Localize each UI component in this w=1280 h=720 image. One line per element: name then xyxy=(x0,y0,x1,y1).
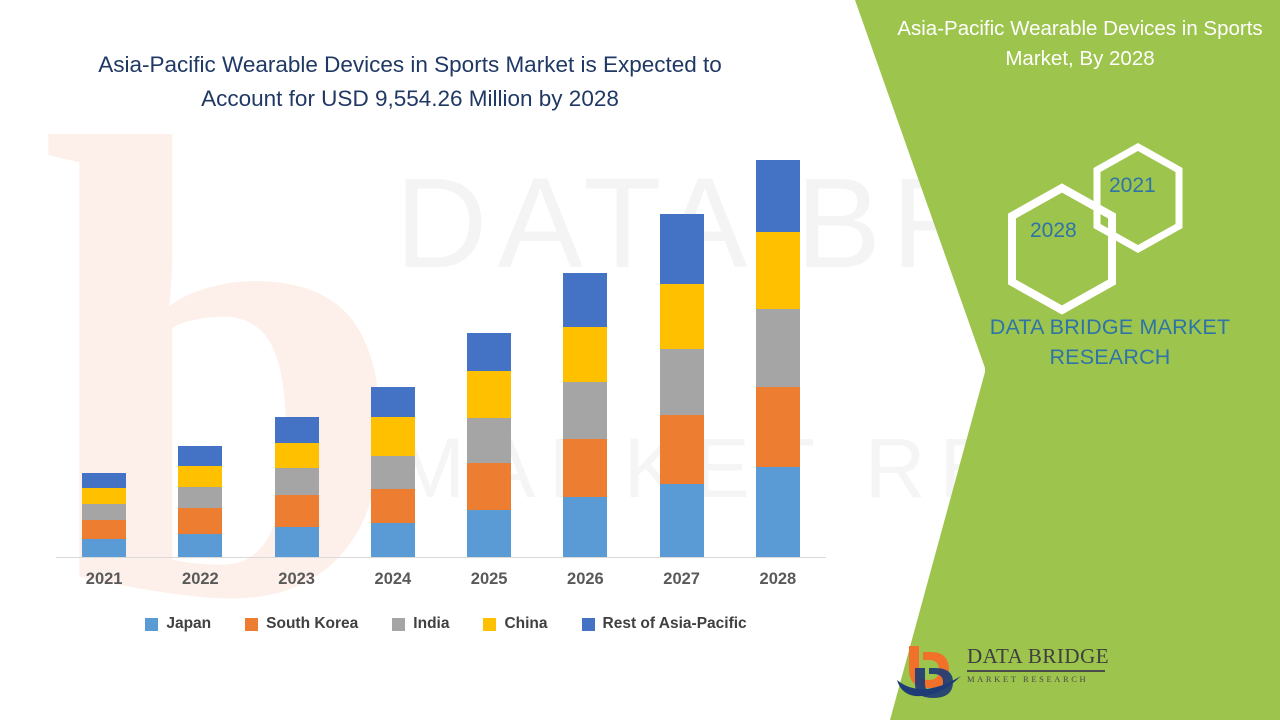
bar-segment[interactable] xyxy=(660,284,704,349)
bar-segment[interactable] xyxy=(467,463,511,510)
x-axis-labels: 20212022202320242025202620272028 xyxy=(56,570,826,589)
bar-segment[interactable] xyxy=(275,527,319,557)
bar-segment[interactable] xyxy=(178,487,222,508)
bar-segment[interactable] xyxy=(756,232,800,310)
bar-segment[interactable] xyxy=(275,417,319,443)
hexagon-front-year: 2028 xyxy=(1030,219,1077,243)
legend-item[interactable]: Rest of Asia-Pacific xyxy=(582,615,747,633)
bar-segment[interactable] xyxy=(275,468,319,495)
bar-segment[interactable] xyxy=(660,415,704,484)
x-axis-label: 2027 xyxy=(654,570,710,589)
bar-segment[interactable] xyxy=(756,160,800,232)
legend-label: Rest of Asia-Pacific xyxy=(603,615,747,633)
bar-group xyxy=(365,160,421,557)
legend-swatch xyxy=(245,618,258,631)
x-axis-label: 2021 xyxy=(76,570,132,589)
legend-swatch xyxy=(483,618,496,631)
bar-segment[interactable] xyxy=(563,273,607,326)
hexagon-back-year: 2021 xyxy=(1109,174,1156,198)
bar-group xyxy=(269,160,325,557)
x-axis-label: 2028 xyxy=(750,570,806,589)
x-axis-label: 2022 xyxy=(172,570,228,589)
x-axis-label: 2026 xyxy=(557,570,613,589)
bar-group xyxy=(461,160,517,557)
bar-segment[interactable] xyxy=(371,417,415,455)
bar-segment[interactable] xyxy=(178,466,222,486)
x-axis-label: 2023 xyxy=(269,570,325,589)
legend-swatch xyxy=(392,618,405,631)
bar-segment[interactable] xyxy=(660,349,704,415)
x-axis-label: 2024 xyxy=(365,570,421,589)
bar-segment[interactable] xyxy=(178,446,222,466)
bar-segment[interactable] xyxy=(563,439,607,498)
bar-group xyxy=(172,160,228,557)
bar-segment[interactable] xyxy=(371,523,415,557)
x-axis-label: 2025 xyxy=(461,570,517,589)
chart-legend: JapanSouth KoreaIndiaChinaRest of Asia-P… xyxy=(56,615,836,633)
stacked-bar[interactable] xyxy=(178,446,222,557)
bar-segment[interactable] xyxy=(563,497,607,557)
bar-segment[interactable] xyxy=(178,534,222,557)
legend-item[interactable]: Japan xyxy=(145,615,211,633)
x-axis-line xyxy=(56,557,826,558)
bar-segment[interactable] xyxy=(371,387,415,417)
legend-item[interactable]: India xyxy=(392,615,449,633)
chart-plot-area xyxy=(56,160,826,558)
stacked-bar[interactable] xyxy=(756,160,800,557)
chart-title: Asia-Pacific Wearable Devices in Sports … xyxy=(60,48,760,116)
bar-segment[interactable] xyxy=(563,327,607,382)
bar-segment[interactable] xyxy=(467,510,511,557)
panel-title: Asia-Pacific Wearable Devices in Sports … xyxy=(880,14,1280,74)
legend-label: Japan xyxy=(166,615,211,633)
bar-segment[interactable] xyxy=(371,489,415,523)
logo-divider xyxy=(967,670,1105,672)
hexagon-badges: 2021 2028 xyxy=(992,140,1202,285)
bar-segment[interactable] xyxy=(82,488,126,504)
stacked-bar[interactable] xyxy=(82,473,126,557)
bar-group xyxy=(654,160,710,557)
bar-segment[interactable] xyxy=(467,418,511,463)
bar-group xyxy=(557,160,613,557)
bar-segment[interactable] xyxy=(275,443,319,469)
legend-label: South Korea xyxy=(266,615,358,633)
infographic-root: b DATA BRIDGE MARKET RESEARCH Asia-Pacif… xyxy=(0,0,1280,720)
bar-segment[interactable] xyxy=(82,539,126,557)
hexagon-front-icon xyxy=(1002,183,1122,315)
bar-segment[interactable] xyxy=(178,508,222,534)
bar-segment[interactable] xyxy=(660,484,704,557)
brand-name: DATA BRIDGE MARKET RESEARCH xyxy=(960,312,1260,372)
bar-group xyxy=(750,160,806,557)
logo-sub-text: MARKET RESEARCH xyxy=(967,674,1107,684)
legend-label: China xyxy=(504,615,547,633)
legend-swatch xyxy=(145,618,158,631)
bar-segment[interactable] xyxy=(82,520,126,539)
bar-segment[interactable] xyxy=(467,371,511,418)
stacked-bar[interactable] xyxy=(563,273,607,557)
bar-segment[interactable] xyxy=(275,495,319,527)
bar-segment[interactable] xyxy=(82,473,126,488)
logo-main-text: DATA BRIDGE xyxy=(967,644,1107,669)
bar-segment[interactable] xyxy=(371,456,415,489)
bar-segment[interactable] xyxy=(467,333,511,371)
legend-label: India xyxy=(413,615,449,633)
legend-item[interactable]: China xyxy=(483,615,547,633)
bar-group xyxy=(76,160,132,557)
data-bridge-b-mark-icon xyxy=(895,640,965,702)
logo: DATA BRIDGE MARKET RESEARCH xyxy=(895,640,1105,702)
stacked-bar[interactable] xyxy=(660,214,704,557)
bar-segment[interactable] xyxy=(756,467,800,557)
logo-wordmark: DATA BRIDGE MARKET RESEARCH xyxy=(967,644,1107,684)
legend-swatch xyxy=(582,618,595,631)
bar-segment[interactable] xyxy=(660,214,704,283)
bar-segment[interactable] xyxy=(563,382,607,439)
stacked-bar[interactable] xyxy=(467,333,511,557)
stacked-bar[interactable] xyxy=(371,387,415,557)
bar-segment[interactable] xyxy=(82,504,126,520)
legend-item[interactable]: South Korea xyxy=(245,615,358,633)
bar-segment[interactable] xyxy=(756,309,800,387)
stacked-bar[interactable] xyxy=(275,417,319,557)
stacked-bar-series xyxy=(56,160,826,557)
bar-segment[interactable] xyxy=(756,387,800,467)
